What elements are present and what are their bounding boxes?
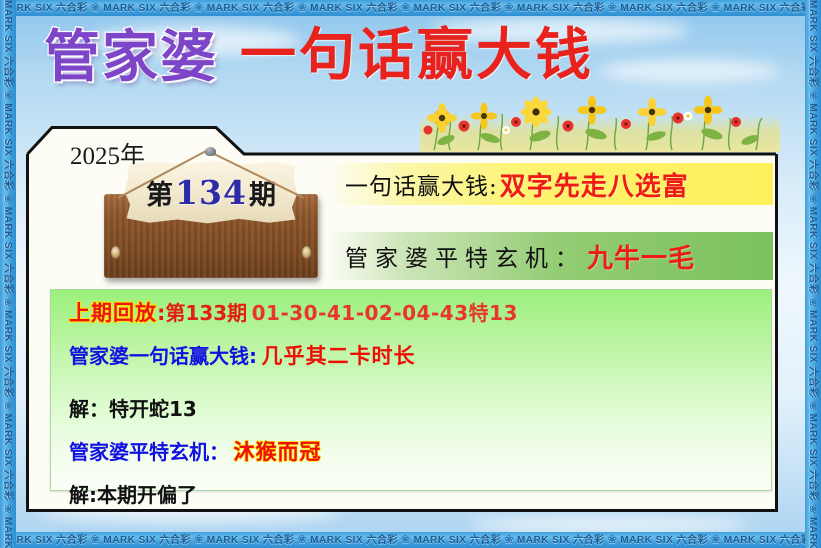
replay-numbers: 01-30-41-02-04-43特13 [252, 301, 518, 325]
slogan-title: 一句话赢大钱 [240, 28, 594, 86]
border-pattern-text: MARK SIX 六合彩❀MARK SIX 六合彩❀MARK SIX 六合彩❀M… [805, 0, 821, 548]
brand-title: 管家婆 [44, 30, 218, 86]
answer-text-1: 解：特开蛇13 [69, 397, 197, 421]
answer-text-2: 解:本期开偏了 [69, 483, 197, 507]
forecast-label: 管家婆一句话赢大钱: [69, 344, 257, 368]
border-right: MARK SIX 六合彩❀MARK SIX 六合彩❀MARK SIX 六合彩❀M… [805, 0, 821, 548]
border-left: MARK SIX 六合彩❀MARK SIX 六合彩❀MARK SIX 六合彩❀M… [0, 0, 16, 548]
sign-hook-icon [205, 147, 216, 156]
replay-issue: 第133期 [165, 301, 247, 325]
answer-row-2: 解:本期开偏了 [69, 485, 771, 506]
banner-pingte-xuanji: 管家婆平特玄机： 九牛一毛 [327, 232, 773, 280]
cloud-decoration [600, 60, 780, 82]
xuanji-row: 管家婆平特玄机： 沐猴而冠 [69, 442, 771, 463]
banner-yijuhua: 一句话赢大钱: 双字先走八选富 [327, 163, 773, 205]
border-pattern-text: MARK SIX 六合彩❀MARK SIX 六合彩❀MARK SIX 六合彩❀M… [0, 532, 821, 548]
banner-yijuhua-label: 一句话赢大钱: [345, 167, 498, 201]
border-top: MARK SIX 六合彩❀MARK SIX 六合彩❀MARK SIX 六合彩❀M… [0, 0, 821, 16]
border-bottom: MARK SIX 六合彩❀MARK SIX 六合彩❀MARK SIX 六合彩❀M… [0, 532, 821, 548]
banner-yijuhua-value: 双字先走八选富 [500, 166, 689, 203]
xuanji-label: 管家婆平特玄机： [69, 440, 229, 464]
forecast-value: 几乎其二卡时长 [261, 344, 415, 368]
replay-label: 上期回放 [69, 301, 157, 325]
flower-meadow-illustration [420, 92, 780, 152]
forecast-row: 管家婆一句话赢大钱: 几乎其二卡时长 [69, 346, 771, 367]
banner-pingte-xuanji-label: 管家婆平特玄机： [345, 239, 585, 273]
sign-peg-right-icon [302, 246, 311, 259]
border-pattern-text: MARK SIX 六合彩❀MARK SIX 六合彩❀MARK SIX 六合彩❀M… [0, 0, 821, 16]
border-pattern-text: MARK SIX 六合彩❀MARK SIX 六合彩❀MARK SIX 六合彩❀M… [0, 0, 16, 548]
page-title: 管家婆 一句话赢大钱 [44, 28, 594, 86]
banner-pingte-xuanji-value: 九牛一毛 [587, 238, 695, 275]
sign-peg-left-icon [111, 246, 120, 259]
xuanji-value: 沐猴而冠 [233, 440, 321, 464]
result-box: 上期回放:第133期 01-30-41-02-04-43特13 管家婆一句话赢大… [50, 289, 772, 491]
answer-row-1: 解：特开蛇13 [69, 399, 771, 420]
replay-row: 上期回放:第133期 01-30-41-02-04-43特13 [69, 303, 771, 324]
page-canvas: 管家婆 一句话赢大钱 2025年 第134期 一句话赢大钱: 双字先走八选富 管… [0, 0, 821, 548]
